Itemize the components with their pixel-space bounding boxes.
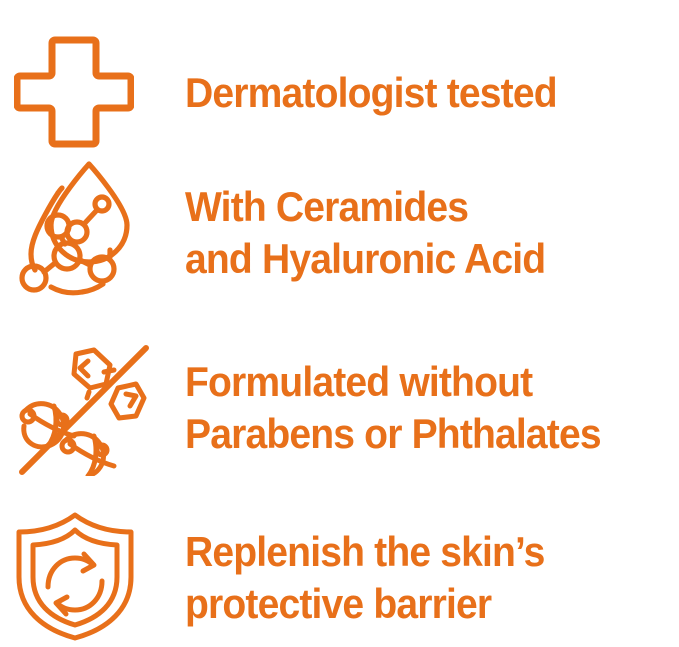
droplet-molecule-icon bbox=[14, 159, 142, 301]
feature-text-line: Dermatologist tested bbox=[185, 67, 644, 119]
feature-text-line: Formulated without bbox=[185, 356, 644, 408]
feature-text-cell: Replenish the skin’s protective barrier bbox=[185, 526, 679, 630]
feature-icon-cell bbox=[0, 35, 185, 149]
feature-text-cell: With Ceramides and Hyaluronic Acid bbox=[185, 181, 679, 285]
feature-list: Dermatologist tested bbox=[0, 0, 679, 646]
feature-row: With Ceramides and Hyaluronic Acid bbox=[0, 155, 679, 305]
feature-text-cell: Formulated without Parabens or Phthalate… bbox=[185, 356, 679, 460]
feature-icon-cell bbox=[0, 159, 185, 301]
feature-icon-cell bbox=[0, 511, 185, 641]
feature-text-line: and Hyaluronic Acid bbox=[185, 233, 644, 285]
feature-text-cell: Dermatologist tested bbox=[185, 67, 679, 119]
no-chemicals-crossed-out-icon bbox=[14, 336, 154, 476]
feature-row: Replenish the skin’s protective barrier bbox=[0, 505, 679, 647]
feature-row: Formulated without Parabens or Phthalate… bbox=[0, 330, 679, 482]
shield-renewal-icon bbox=[14, 511, 136, 641]
feature-row: Dermatologist tested bbox=[0, 18, 679, 166]
feature-text-line: protective barrier bbox=[185, 578, 644, 630]
feature-icon-cell bbox=[0, 336, 185, 476]
feature-text-line: Replenish the skin’s bbox=[185, 526, 644, 578]
feature-text-line: Parabens or Phthalates bbox=[185, 408, 644, 460]
feature-text-line: With Ceramides bbox=[185, 181, 644, 233]
medical-cross-icon bbox=[14, 35, 134, 149]
